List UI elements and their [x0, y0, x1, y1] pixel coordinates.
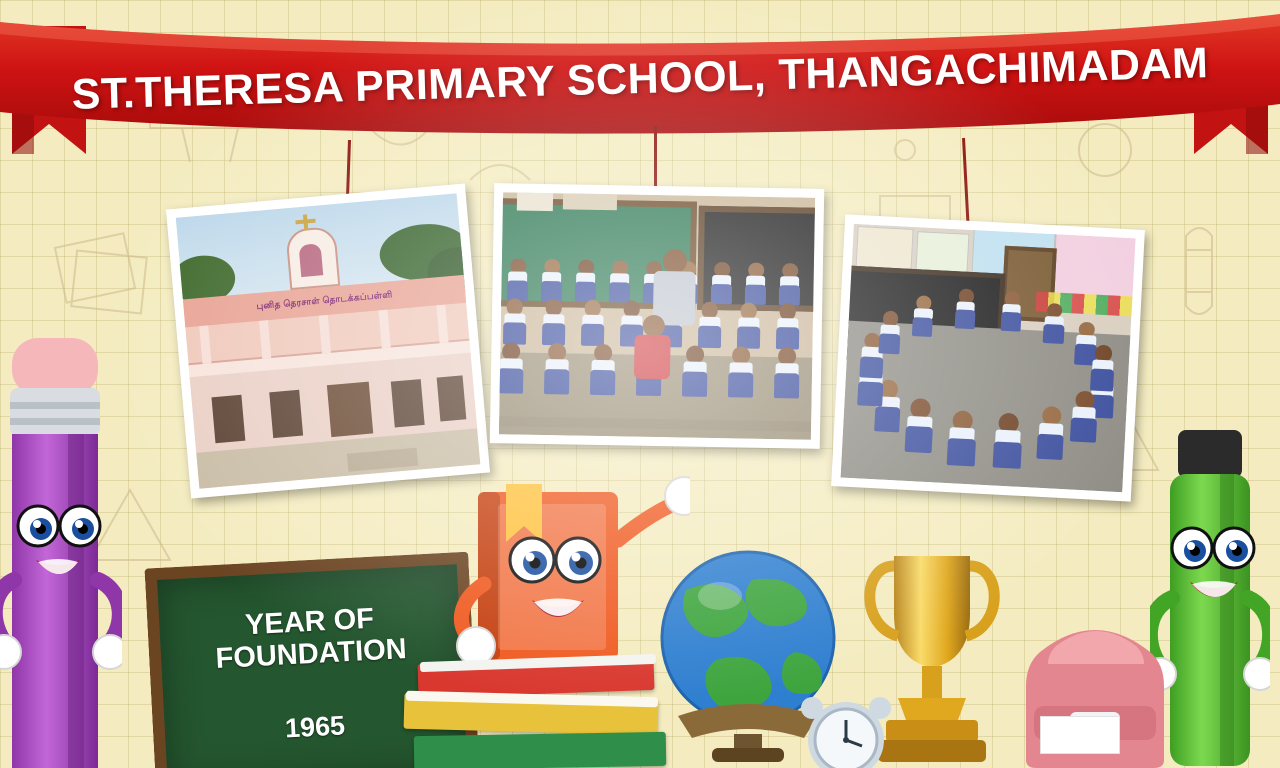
classroom-group-photo[interactable] [490, 183, 824, 449]
student-figure [609, 260, 631, 302]
student-figure [682, 345, 708, 396]
student-figure [544, 343, 570, 394]
student-figure [590, 344, 616, 395]
student-figure [541, 299, 565, 346]
student-figure [993, 412, 1023, 468]
student-figure [947, 410, 977, 466]
pencil-mascot [0, 330, 122, 768]
student-figure [905, 398, 935, 453]
reading-circle-photo[interactable] [831, 214, 1145, 501]
hanging-string-2 [654, 126, 657, 190]
student-figure [774, 347, 800, 398]
student-figure [502, 298, 526, 345]
student-figure [575, 260, 597, 302]
student-figure [736, 302, 760, 349]
student-figure [711, 262, 733, 304]
blank-name-label [1040, 716, 1120, 754]
poster-canvas: A B C 1 2 3 ST.THERESA [0, 0, 1280, 768]
student-figure [541, 259, 563, 301]
student-figure [1070, 390, 1098, 443]
student-figure [775, 303, 799, 350]
student-figure [1001, 291, 1023, 332]
student-figure [580, 300, 604, 347]
student-figure [912, 295, 935, 337]
student-figure [1036, 405, 1066, 460]
student-figure [955, 288, 977, 329]
student-figure [1090, 345, 1115, 392]
student-figure [507, 258, 529, 300]
student-figure [779, 263, 801, 305]
alarm-clock-icon [800, 690, 892, 768]
banner-ribbon [0, 0, 1280, 175]
student-figure [878, 311, 902, 355]
student-figure [728, 346, 754, 397]
student-figure [745, 263, 767, 305]
banner: ST.THERESA PRIMARY SCHOOL, THANGACHIMADA… [0, 0, 1280, 175]
student-figure [697, 302, 721, 349]
student-figure [499, 342, 524, 393]
student-figure [1043, 302, 1066, 344]
